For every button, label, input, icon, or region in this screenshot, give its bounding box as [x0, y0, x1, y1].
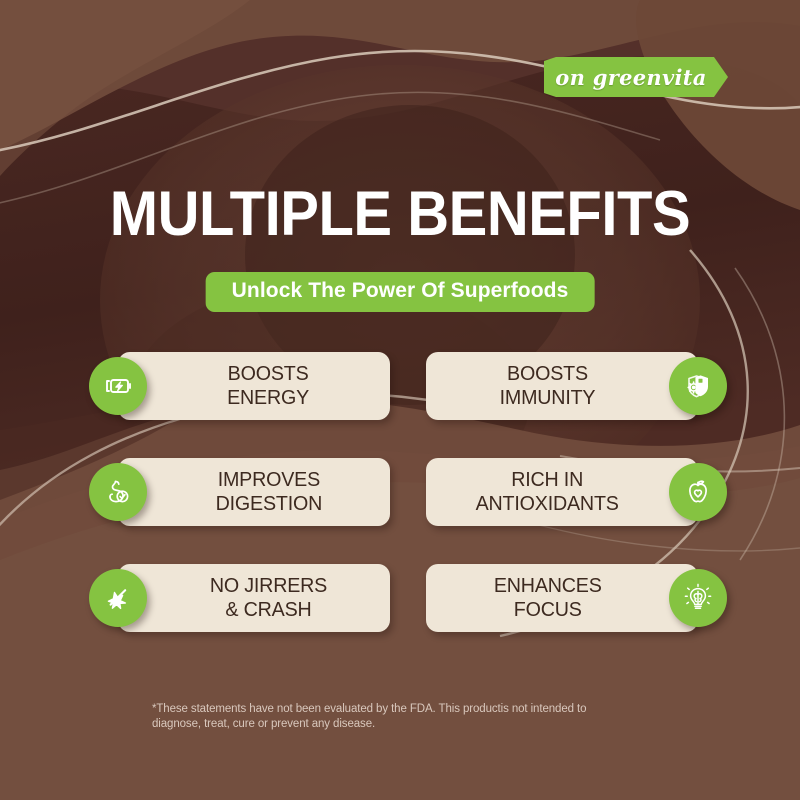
benefit-label: ENHANCES FOCUS: [480, 574, 644, 622]
benefits-grid: BOOSTS ENERGY BOOSTS IMMUNITY: [118, 352, 698, 647]
benefit-label: IMPROVES DIGESTION: [173, 468, 335, 516]
benefit-card-boosts-energy[interactable]: BOOSTS ENERGY: [118, 352, 390, 420]
benefit-label: RICH IN ANTIOXIDANTS: [463, 468, 662, 516]
brand-logo-text: on greenvita: [544, 57, 728, 97]
brand-logo-ribbon[interactable]: on greenvita: [544, 57, 728, 97]
benefits-poster: on greenvita MULTIPLE BENEFITS Unlock Th…: [0, 0, 800, 800]
page-title: MULTIPLE BENEFITS: [32, 183, 768, 246]
benefit-card-boosts-immunity[interactable]: BOOSTS IMMUNITY: [426, 352, 698, 420]
benefit-label: NO JIRRERS & CRASH: [168, 574, 341, 622]
battery-bolt-icon: [89, 357, 147, 415]
subtitle-text: Unlock The Power Of Superfoods: [232, 279, 569, 303]
benefit-label: BOOSTS IMMUNITY: [486, 362, 637, 410]
shield-virus-icon: [669, 357, 727, 415]
apple-heart-icon: [669, 463, 727, 521]
benefit-label: BOOSTS ENERGY: [185, 362, 323, 410]
stomach-check-icon: [89, 463, 147, 521]
disclaimer-text: *These statements have not been evaluate…: [152, 702, 672, 732]
benefit-card-no-jirrers-crash[interactable]: NO JIRRERS & CRASH: [118, 564, 390, 632]
subtitle-pill: Unlock The Power Of Superfoods: [206, 272, 595, 312]
benefit-card-rich-in-antioxidants[interactable]: RICH IN ANTIOXIDANTS: [426, 458, 698, 526]
benefit-card-improves-digestion[interactable]: IMPROVES DIGESTION: [118, 458, 390, 526]
star-burst-icon: [89, 569, 147, 627]
lightbulb-brain-icon: [669, 569, 727, 627]
benefit-card-enhances-focus[interactable]: ENHANCES FOCUS: [426, 564, 698, 632]
